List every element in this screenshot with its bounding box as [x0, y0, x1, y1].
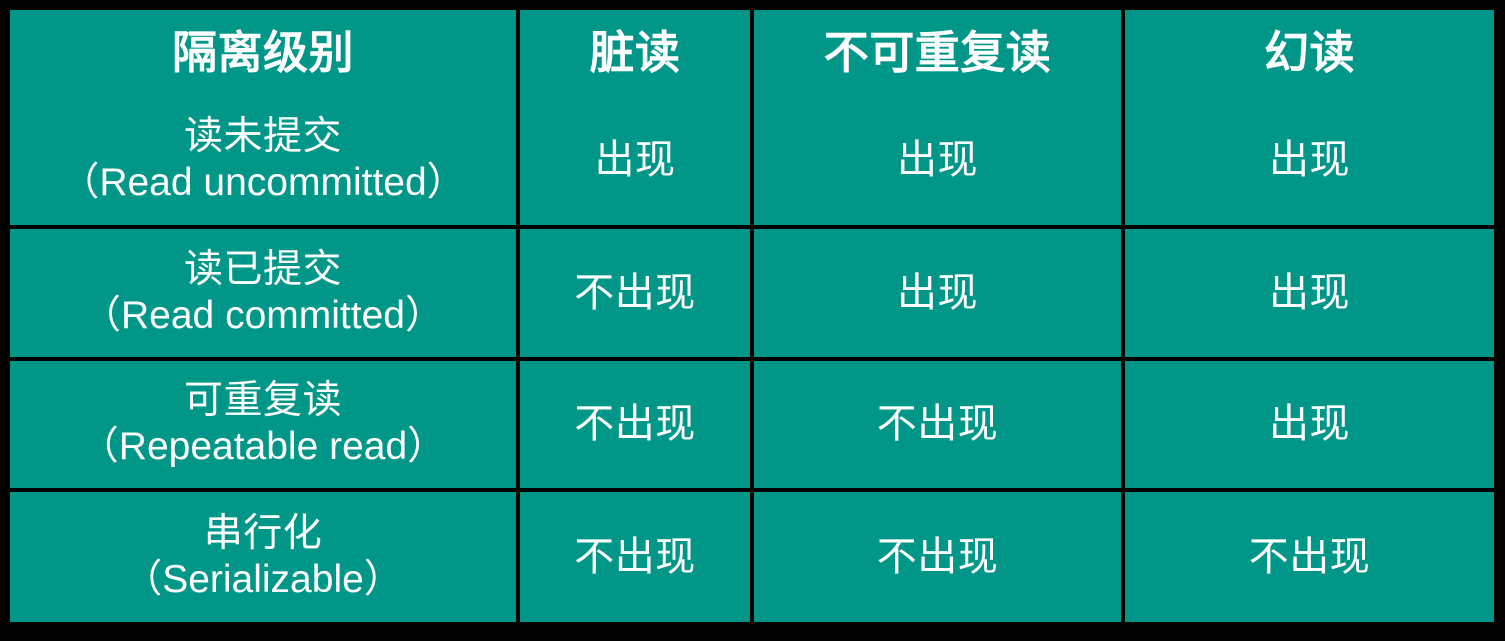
- isolation-level-name-cn: 读已提交: [10, 247, 516, 293]
- table-header-row: 隔离级别 脏读 不可重复读 幻读: [10, 10, 1494, 95]
- cell-dirty-read: 不出现: [518, 227, 752, 359]
- cell-isolation-level: 读已提交 （Read committed）: [10, 227, 518, 359]
- cell-dirty-read-value: 出现: [520, 140, 750, 180]
- table-row: 串行化 （Serializable） 不出现 不出现 不出现: [10, 490, 1494, 622]
- cell-non-repeatable-read-value: 不出现: [754, 404, 1121, 444]
- isolation-level-name-en: （Read committed）: [10, 293, 516, 339]
- isolation-levels-table: 隔离级别 脏读 不可重复读 幻读 读未提交 （Read uncommitted）: [10, 10, 1494, 622]
- cell-non-repeatable-read: 不出现: [752, 490, 1123, 622]
- table-row: 读未提交 （Read uncommitted） 出现 出现 出现: [10, 95, 1494, 227]
- cell-dirty-read: 不出现: [518, 359, 752, 491]
- cell-phantom-read: 不出现: [1123, 490, 1494, 622]
- cell-non-repeatable-read: 出现: [752, 95, 1123, 227]
- cell-non-repeatable-read-value: 出现: [754, 273, 1121, 313]
- table-header: 隔离级别 脏读 不可重复读 幻读: [10, 10, 1494, 95]
- cell-phantom-read: 出现: [1123, 227, 1494, 359]
- column-header-non-repeatable-read: 不可重复读: [752, 10, 1123, 95]
- isolation-level-name-en: （Repeatable read）: [10, 424, 516, 470]
- isolation-level-name-en: （Serializable）: [10, 557, 516, 603]
- table-row: 可重复读 （Repeatable read） 不出现 不出现 出现: [10, 359, 1494, 491]
- cell-non-repeatable-read-value: 不出现: [754, 537, 1121, 577]
- cell-isolation-level: 可重复读 （Repeatable read）: [10, 359, 518, 491]
- cell-non-repeatable-read: 出现: [752, 227, 1123, 359]
- cell-phantom-read-value: 出现: [1125, 140, 1494, 180]
- isolation-level-name-cn: 串行化: [10, 511, 516, 557]
- cell-dirty-read: 出现: [518, 95, 752, 227]
- cell-phantom-read-value: 不出现: [1125, 537, 1494, 577]
- column-header-isolation-level-label: 隔离级别: [10, 29, 516, 76]
- cell-non-repeatable-read: 不出现: [752, 359, 1123, 491]
- cell-dirty-read: 不出现: [518, 490, 752, 622]
- cell-isolation-level: 串行化 （Serializable）: [10, 490, 518, 622]
- table-row: 读已提交 （Read committed） 不出现 出现 出现: [10, 227, 1494, 359]
- cell-non-repeatable-read-value: 出现: [754, 140, 1121, 180]
- column-header-isolation-level: 隔离级别: [10, 10, 518, 95]
- isolation-level-name-cn: 可重复读: [10, 378, 516, 424]
- cell-dirty-read-value: 不出现: [520, 537, 750, 577]
- isolation-level-name-en: （Read uncommitted）: [10, 160, 516, 206]
- table-body: 读未提交 （Read uncommitted） 出现 出现 出现 读已提交 （R…: [10, 95, 1494, 622]
- cell-phantom-read: 出现: [1123, 95, 1494, 227]
- column-header-non-repeatable-read-label: 不可重复读: [754, 29, 1121, 76]
- column-header-phantom-read-label: 幻读: [1125, 29, 1494, 76]
- cell-isolation-level: 读未提交 （Read uncommitted）: [10, 95, 518, 227]
- cell-phantom-read-value: 出现: [1125, 404, 1494, 444]
- cell-dirty-read-value: 不出现: [520, 404, 750, 444]
- isolation-level-name-cn: 读未提交: [10, 114, 516, 160]
- column-header-dirty-read-label: 脏读: [520, 29, 750, 76]
- column-header-phantom-read: 幻读: [1123, 10, 1494, 95]
- cell-phantom-read-value: 出现: [1125, 273, 1494, 313]
- column-header-dirty-read: 脏读: [518, 10, 752, 95]
- screenshot-canvas: 隔离级别 脏读 不可重复读 幻读 读未提交 （Read uncommitted）: [0, 0, 1505, 641]
- cell-dirty-read-value: 不出现: [520, 273, 750, 313]
- cell-phantom-read: 出现: [1123, 359, 1494, 491]
